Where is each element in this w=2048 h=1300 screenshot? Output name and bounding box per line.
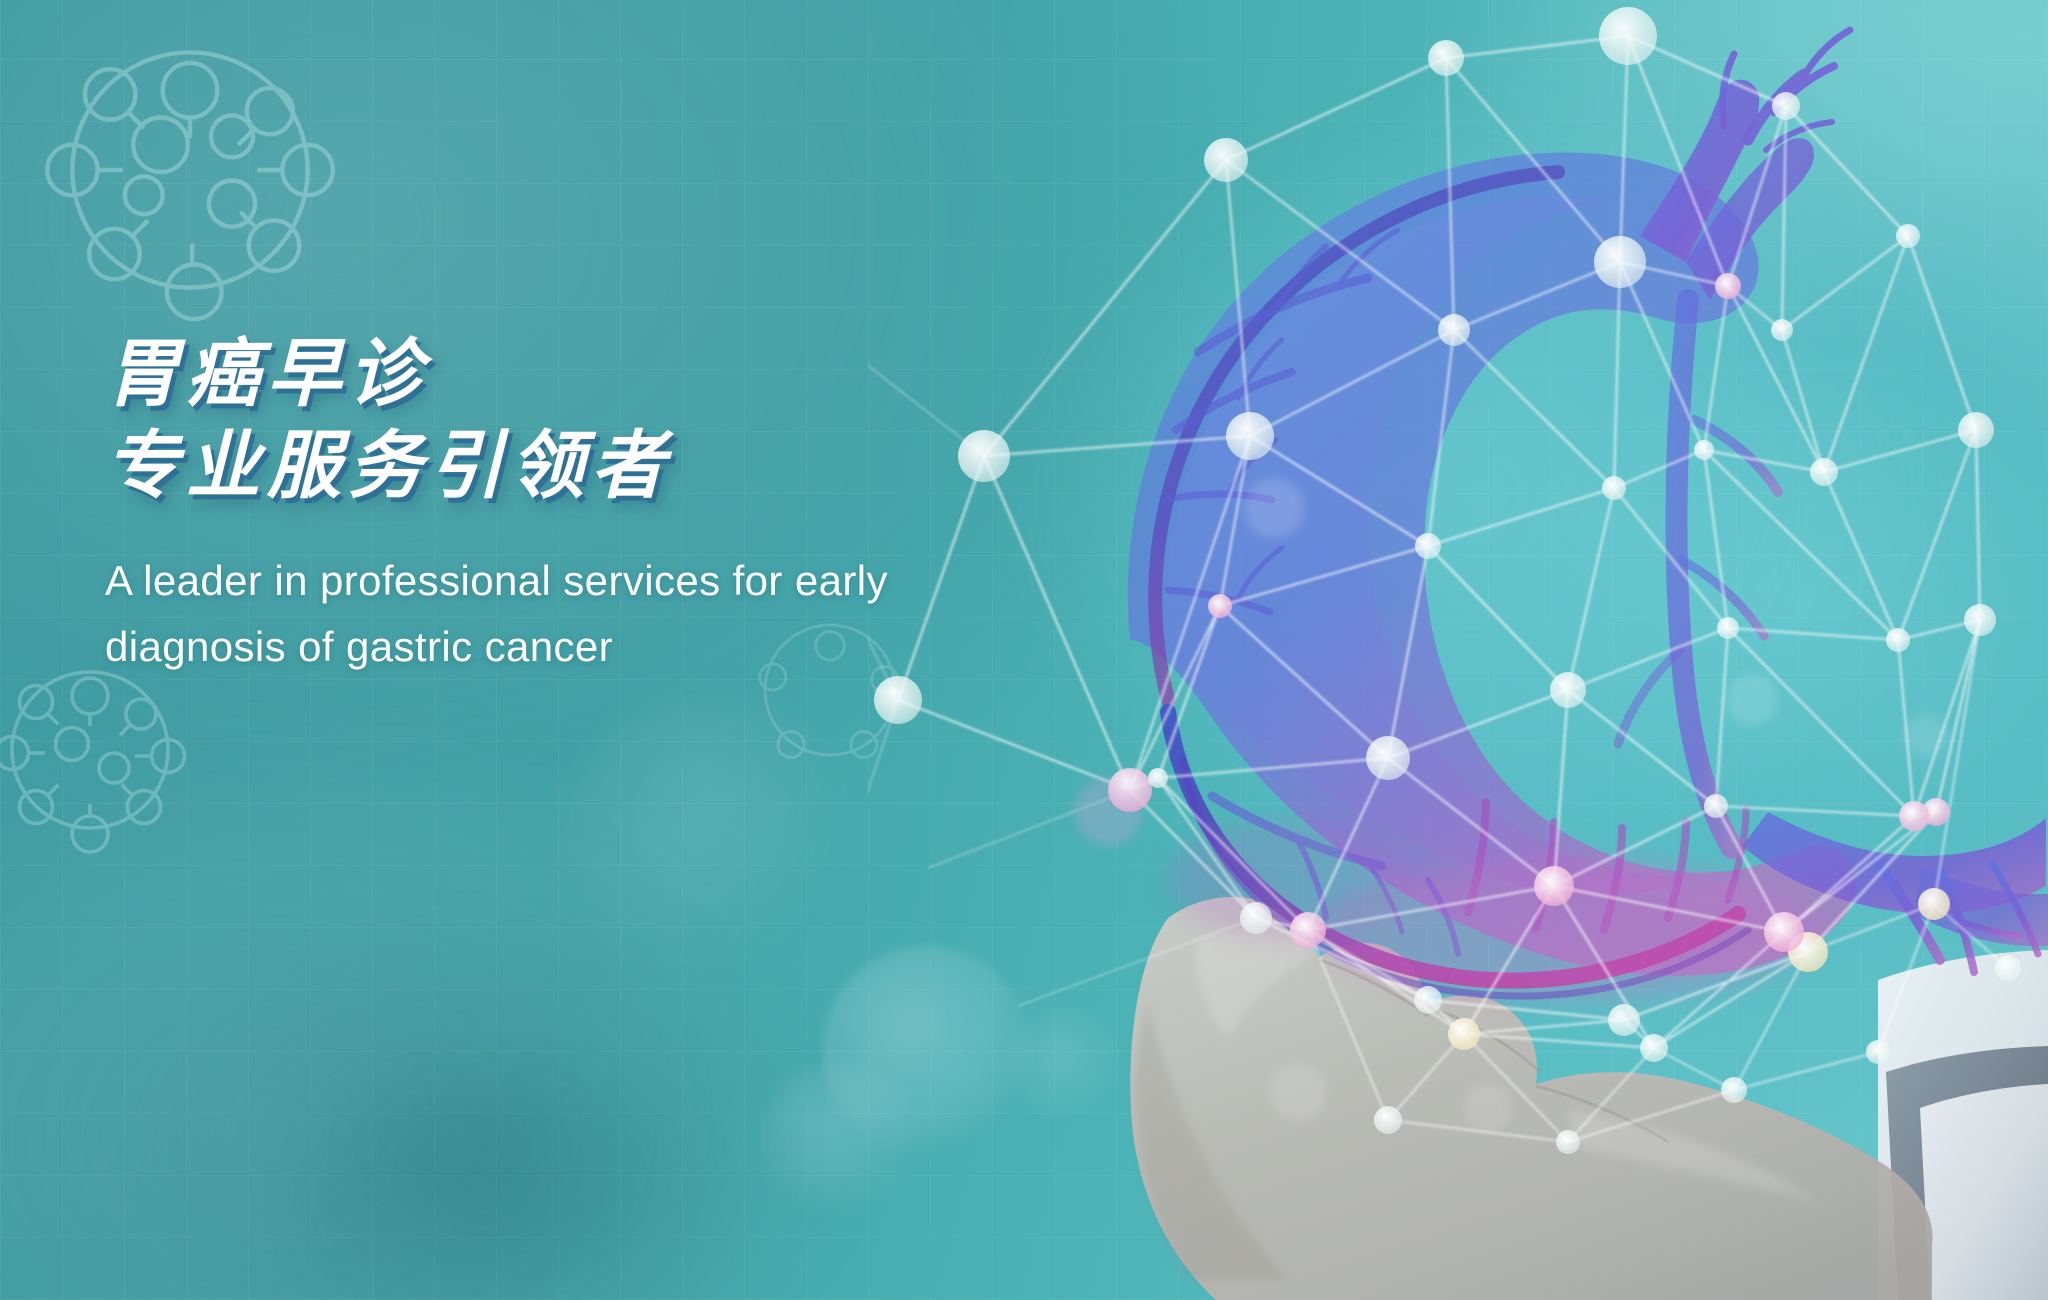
stomach-in-hand-artwork [868, 0, 2048, 1300]
hero-banner: 胃癌早诊 专业服务引领者 A leader in professional se… [0, 0, 2048, 1300]
background-dark-blob [41, 884, 860, 1300]
